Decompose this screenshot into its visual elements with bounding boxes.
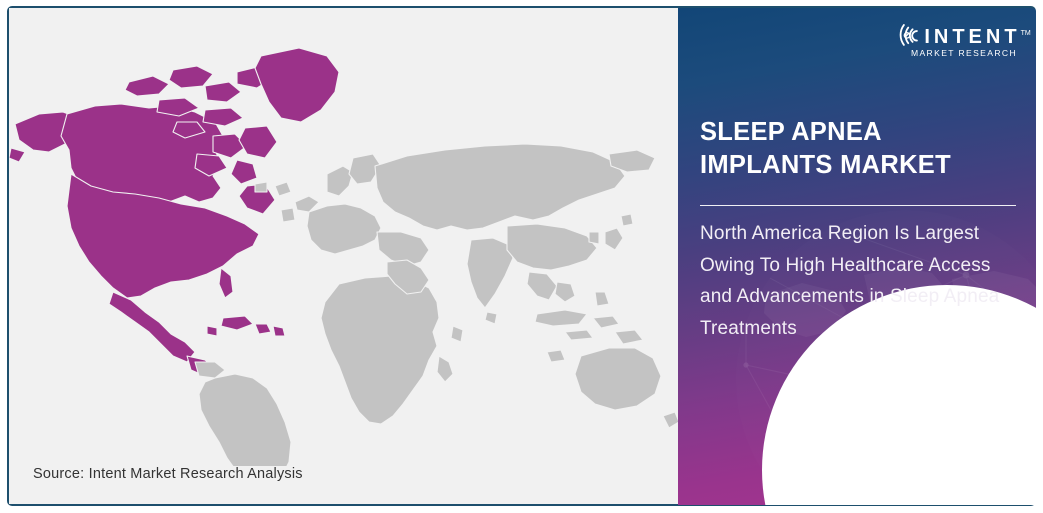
panel-subtitle: North America Region Is Largest Owing To… bbox=[700, 218, 1000, 344]
brand-logo: INTENT TM MARKET RESEARCH bbox=[906, 17, 1022, 63]
signal-wave-icon bbox=[897, 21, 923, 48]
world-map bbox=[9, 26, 679, 466]
logo-row: INTENT TM bbox=[897, 17, 1030, 47]
headline-panel: Sleep Apnea Implants Market North Americ… bbox=[678, 8, 1036, 505]
logo-trademark: TM bbox=[1021, 30, 1031, 37]
page-title: Sleep Apnea Implants Market bbox=[700, 116, 1020, 182]
logo-tagline: MARKET RESEARCH bbox=[911, 48, 1017, 58]
logo-wordmark: INTENT bbox=[924, 27, 1020, 47]
infographic-card: Source: Intent Market Research Analysis bbox=[0, 0, 1043, 513]
title-divider bbox=[700, 205, 1016, 206]
source-note: Source: Intent Market Research Analysis bbox=[33, 466, 303, 482]
map-panel: Source: Intent Market Research Analysis bbox=[9, 8, 679, 504]
